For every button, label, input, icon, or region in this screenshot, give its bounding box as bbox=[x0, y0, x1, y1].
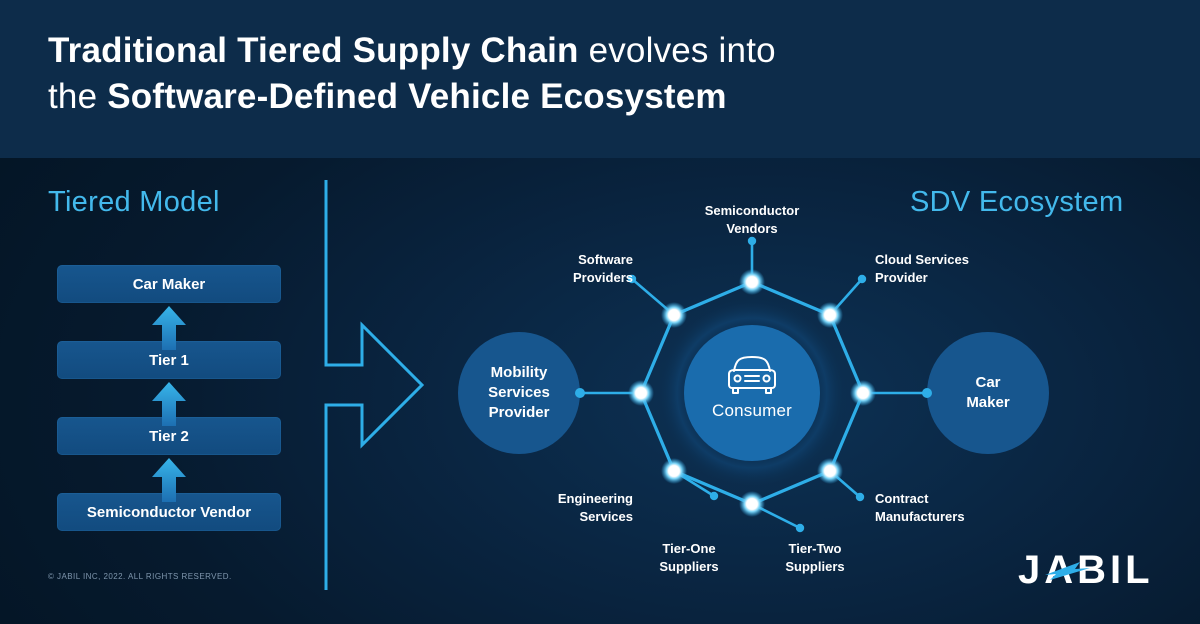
ring-label-engineering-services: Engineering Services bbox=[453, 490, 633, 525]
ring-label-semiconductor-vendors: Semiconductor Vendors bbox=[672, 202, 832, 237]
sdv-ecosystem-diagram bbox=[0, 0, 1200, 624]
hub-label-car-maker: Car Maker bbox=[928, 373, 1048, 413]
ring-label-software-providers: Software Providers bbox=[443, 251, 633, 286]
ring-label-contract-manufacturers: Contract Manufacturers bbox=[875, 490, 1055, 525]
ring-label-cloud-services-provider: Cloud Services Provider bbox=[875, 251, 1055, 286]
ring-label-tier-one-suppliers: Tier-One Suppliers bbox=[609, 540, 769, 575]
hub-center-label: Consumer bbox=[652, 401, 852, 421]
copyright-notice: © JABIL INC, 2022. ALL RIGHTS RESERVED. bbox=[48, 572, 232, 581]
jabil-logo: JABIL bbox=[1018, 547, 1158, 595]
hub-label-mobility-services-provider: Mobility Services Provider bbox=[459, 363, 579, 423]
jabil-logo-text: JABIL bbox=[1018, 548, 1154, 592]
infographic-canvas: Traditional Tiered Supply Chain evolves … bbox=[0, 0, 1200, 624]
car-front-icon bbox=[722, 352, 782, 398]
